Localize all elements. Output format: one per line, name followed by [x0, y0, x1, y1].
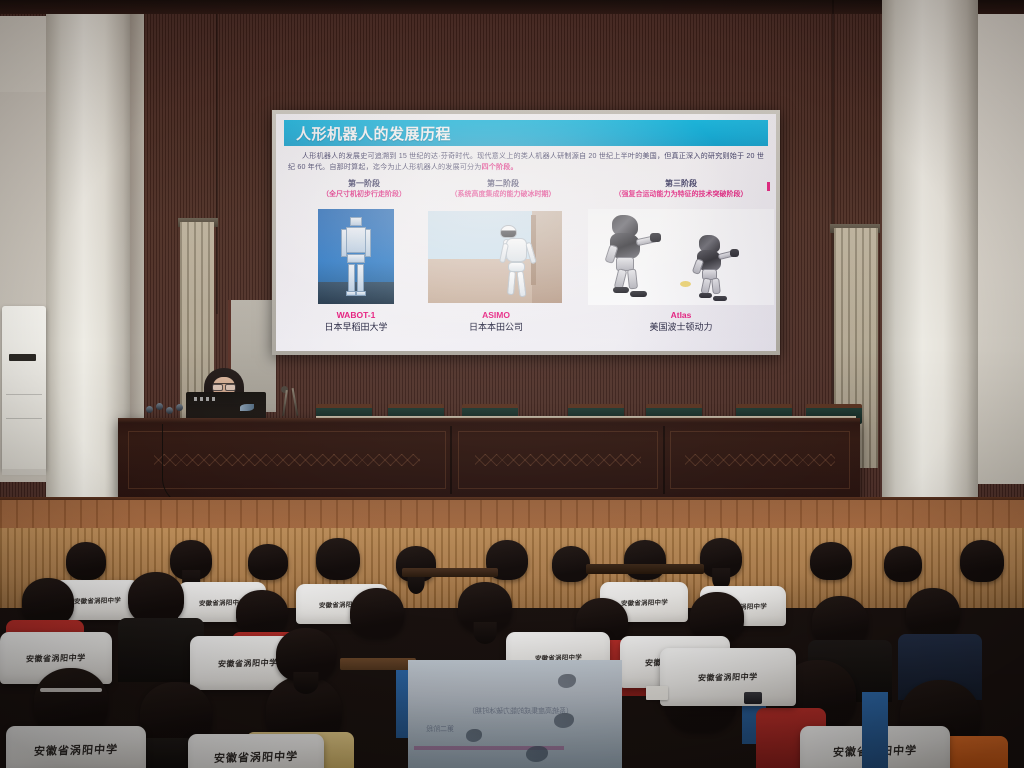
wall-seam-mid-left [216, 14, 218, 314]
caption-atlas-name: Atlas [598, 309, 764, 321]
asimo-leg-left [507, 271, 516, 296]
laptop-keyboard [194, 397, 216, 401]
audience-head [236, 590, 288, 636]
asimo-photo [428, 211, 562, 303]
atlas-photo-floor-marker [680, 281, 691, 287]
chair-cover-text: 安徽省涡阳中学 [33, 741, 118, 759]
slide-image-row [288, 209, 764, 307]
atlas1-hand [650, 233, 661, 242]
slide-title: 人形机器人的发展历程 [284, 123, 451, 144]
asimo-torso [506, 238, 527, 262]
stage-label-3: 第三阶段 （强复合运动能力为特征的技术突破阶段） [586, 178, 776, 200]
chair-cover-text: 安徽省涡阳中学 [73, 594, 121, 605]
handheld-device [744, 692, 762, 704]
podium-chevron-2 [475, 454, 641, 465]
wabot-photo [318, 209, 394, 304]
podium-chevron-3 [685, 454, 835, 465]
slide-paragraph-text: 人形机器人的发展史可追溯到 15 世纪的达·芬奇时代。现代意义上的类人机器人研制… [288, 152, 764, 171]
stage-1-subtitle: （全尺寸机初步行走阶段） [304, 189, 424, 200]
stage-2-title: 第二阶段 [428, 178, 578, 189]
chair-cover: 安徽省涡阳中学 [660, 648, 796, 706]
presenter-laptop [186, 392, 266, 420]
mic-node-1 [146, 406, 153, 413]
mic-node-4 [176, 404, 183, 411]
mic-node-2 [156, 403, 163, 410]
audience-head [810, 542, 852, 580]
audience-head [552, 546, 590, 582]
audience-head [884, 546, 922, 582]
slide-stage-labels: 第一阶段 （全尺寸机初步行走阶段） 第二阶段 （系统高度集成的能力破冰时期） 第… [288, 178, 764, 208]
slide-paragraph: 人形机器人的发展史可追溯到 15 世纪的达·芬奇时代。现代意义上的类人机器人研制… [288, 151, 764, 173]
atlas-robot-figure-2 [694, 235, 740, 301]
asimo-helmet [500, 225, 517, 238]
podium-divider-1 [450, 426, 452, 494]
podium-divider-2 [663, 426, 665, 494]
ac-base [2, 469, 46, 475]
chair-cover-text: 安徽省涡阳中学 [218, 657, 279, 670]
presenter-glasses [212, 383, 236, 388]
projection-screen-frame: 人形机器人的发展历程 人形机器人的发展史可追溯到 15 世纪的达·芬奇时代。现代… [272, 110, 780, 355]
stage-label-1: 第一阶段 （全尺寸机初步行走阶段） [304, 178, 424, 200]
chair-cover: 安徽省涡阳中学 [188, 734, 324, 768]
pillar-right-round [882, 0, 978, 530]
audience-head [128, 572, 184, 624]
podium-tabletop [118, 418, 860, 423]
slide-captions-row: WABOT-1 日本早稻田大学 ASIMO 日本本田公司 Atlas 美国波士顿… [288, 309, 764, 341]
chair-cover-text: 安徽省涡阳中学 [620, 596, 668, 607]
glossy-desk-reflection: 第二阶段 （系统高度集成的能力破冰时期） [408, 660, 622, 768]
audience-desk [340, 658, 416, 670]
caption-atlas-org: 美国波士顿动力 [598, 321, 764, 334]
power-cable [162, 424, 258, 506]
audience-head [624, 540, 666, 580]
ac-vent-panel [9, 354, 36, 361]
wall-top-trim [0, 0, 1024, 14]
caption-asimo-name: ASIMO [438, 309, 554, 321]
wabot-hip [347, 254, 365, 263]
caption-wabot-name: WABOT-1 [302, 309, 410, 321]
stage-2-subtitle: （系统高度集成的能力破冰时期） [428, 189, 578, 200]
chair-cover-text: 安徽省涡阳中学 [26, 652, 87, 665]
audience-head [248, 544, 288, 580]
stage-1-title: 第一阶段 [304, 178, 424, 189]
atlas-photo [588, 209, 774, 305]
podium-panel-2 [458, 431, 658, 489]
chair-cover: 安徽省涡阳中学 [6, 726, 146, 768]
audience-head [960, 540, 1004, 582]
audience-head [66, 542, 106, 580]
wabot-arm-left [341, 229, 347, 257]
atlas1-foot-left [613, 287, 629, 293]
caption-atlas: Atlas 美国波士顿动力 [598, 309, 764, 334]
asimo-photo-wall [532, 211, 562, 303]
wabot-foot-right [356, 291, 366, 296]
wabot-leg-left [348, 264, 355, 292]
audience-head [690, 592, 744, 642]
air-conditioner-unit [2, 306, 46, 470]
projection-screen: 人形机器人的发展历程 人形机器人的发展史可追溯到 15 世纪的达·芬奇时代。现代… [276, 114, 776, 351]
mic-node-3 [166, 407, 173, 414]
caption-asimo-org: 日本本田公司 [438, 321, 554, 334]
stage-3-subtitle: （强复合运动能力为特征的技术突破阶段） [586, 189, 776, 200]
slide-paragraph-highlight: 四个阶段。 [482, 163, 518, 171]
chair-cover-text: 安徽省涡阳中学 [698, 671, 759, 684]
chair-cover-text: 安徽省涡阳中学 [213, 748, 298, 766]
audience-head [22, 578, 74, 626]
audience-head [316, 538, 360, 580]
slide-title-bar: 人形机器人的发展历程 [284, 120, 768, 146]
wabot-foot-left [346, 291, 356, 296]
asimo-robot-figure [500, 225, 534, 299]
atlas2-hand [730, 249, 739, 257]
atlas2-foot-left [699, 293, 712, 298]
atlas2-thigh-right [711, 278, 721, 295]
audience-head [458, 582, 512, 632]
audience-head [906, 588, 960, 638]
reflection-shading [408, 660, 622, 768]
ac-seam-2 [6, 418, 42, 419]
caption-wabot: WABOT-1 日本早稻田大学 [302, 309, 410, 334]
audience-head [276, 628, 336, 682]
wabot-torso [346, 227, 366, 253]
audience-desk-back [586, 564, 704, 574]
ac-seam-1 [6, 394, 42, 395]
laptop-logo [240, 404, 254, 411]
wabot-arm-right [365, 229, 371, 257]
wabot-robot-figure [341, 217, 371, 297]
audience-head [350, 588, 404, 638]
audience-head [170, 540, 212, 580]
wabot-leg-right [357, 264, 364, 292]
stage-label-2: 第二阶段 （系统高度集成的能力破冰时期） [428, 178, 578, 200]
atlas-robot-figure-1 [606, 215, 662, 299]
paper-sheet [646, 686, 668, 700]
audience-head [700, 538, 742, 578]
microphone-cluster [146, 400, 190, 418]
podium-panel-3 [670, 431, 850, 489]
slide-body: 人形机器人的发展史可追溯到 15 世纪的达·芬奇时代。现代意义上的类人机器人研制… [276, 146, 776, 341]
lecture-hall-photo: 人形机器人的发展历程 人形机器人的发展史可追溯到 15 世纪的达·芬奇时代。现代… [0, 0, 1024, 768]
atlas1-foot-right [630, 291, 647, 297]
atlas2-foot-right [713, 296, 727, 301]
caption-wabot-org: 日本早稻田大学 [302, 321, 410, 334]
desk-side-panel [862, 692, 888, 768]
atlas1-thigh-right [627, 269, 638, 290]
asimo-leg-right [516, 271, 526, 298]
stage-3-title: 第三阶段 [586, 178, 776, 189]
audience-desk-back-2 [402, 568, 498, 577]
caption-asimo: ASIMO 日本本田公司 [438, 309, 554, 334]
wabot-head [350, 217, 362, 226]
